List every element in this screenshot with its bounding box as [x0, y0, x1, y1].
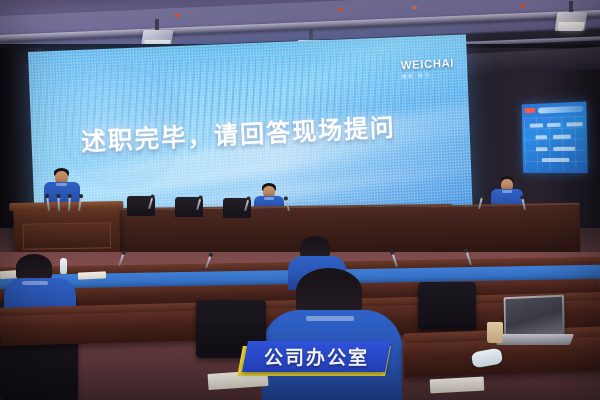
- ceiling-indicator-light: [338, 8, 343, 11]
- laptop-keyboard-base: [496, 334, 574, 345]
- secondary-display-row: [567, 122, 583, 127]
- audience-hair: [16, 254, 52, 280]
- caption-text: 公司办公室: [245, 341, 388, 372]
- audience-hair: [296, 268, 362, 314]
- secondary-display-row: [547, 123, 561, 127]
- paper-cup: [487, 322, 503, 343]
- audience-chair: [418, 282, 476, 330]
- secondary-display-row: [536, 147, 548, 151]
- conference-hall-photo: 述职完毕，请回答现场提问 WEICHAI 潍柴 动力: [0, 0, 600, 400]
- audience-member-left: [4, 254, 76, 314]
- audience-member-center-near: [262, 268, 402, 400]
- laptop-screen: [504, 295, 565, 337]
- stage-spotlight: [556, 8, 586, 34]
- secondary-display-row: [553, 135, 571, 139]
- secondary-display-row: [536, 135, 548, 139]
- head-table: [112, 204, 453, 256]
- secondary-display: [522, 102, 588, 174]
- brand-wordmark-text: WEICHAI: [400, 56, 454, 72]
- audience-collar: [22, 281, 48, 285]
- document-paper: [78, 271, 106, 279]
- document-paper: [430, 377, 485, 394]
- panelist-collar: [502, 190, 512, 193]
- brand-wordmark: WEICHAI: [400, 57, 454, 71]
- secondary-display-header: [525, 105, 584, 114]
- ceiling-indicator-light: [520, 4, 525, 7]
- secondary-display-row: [542, 158, 570, 162]
- head-table-right: [430, 203, 581, 256]
- secondary-display-row: [530, 123, 543, 127]
- secondary-display-title-bar: [538, 105, 584, 113]
- speaker-collar: [56, 183, 67, 186]
- podium-top-edge: [9, 201, 123, 211]
- secondary-display-row: [553, 147, 575, 151]
- panelist-collar: [264, 197, 274, 200]
- audience-collar: [306, 316, 354, 321]
- secondary-display-logo-icon: [525, 108, 535, 113]
- weichai-logo: WEICHAI 潍柴 动力: [400, 57, 454, 80]
- audience-hair: [300, 236, 330, 258]
- laptop: [502, 296, 578, 346]
- ceiling-indicator-light: [175, 14, 180, 17]
- podium-front-panel: [23, 222, 111, 250]
- ceiling-indicator-light: [412, 6, 417, 9]
